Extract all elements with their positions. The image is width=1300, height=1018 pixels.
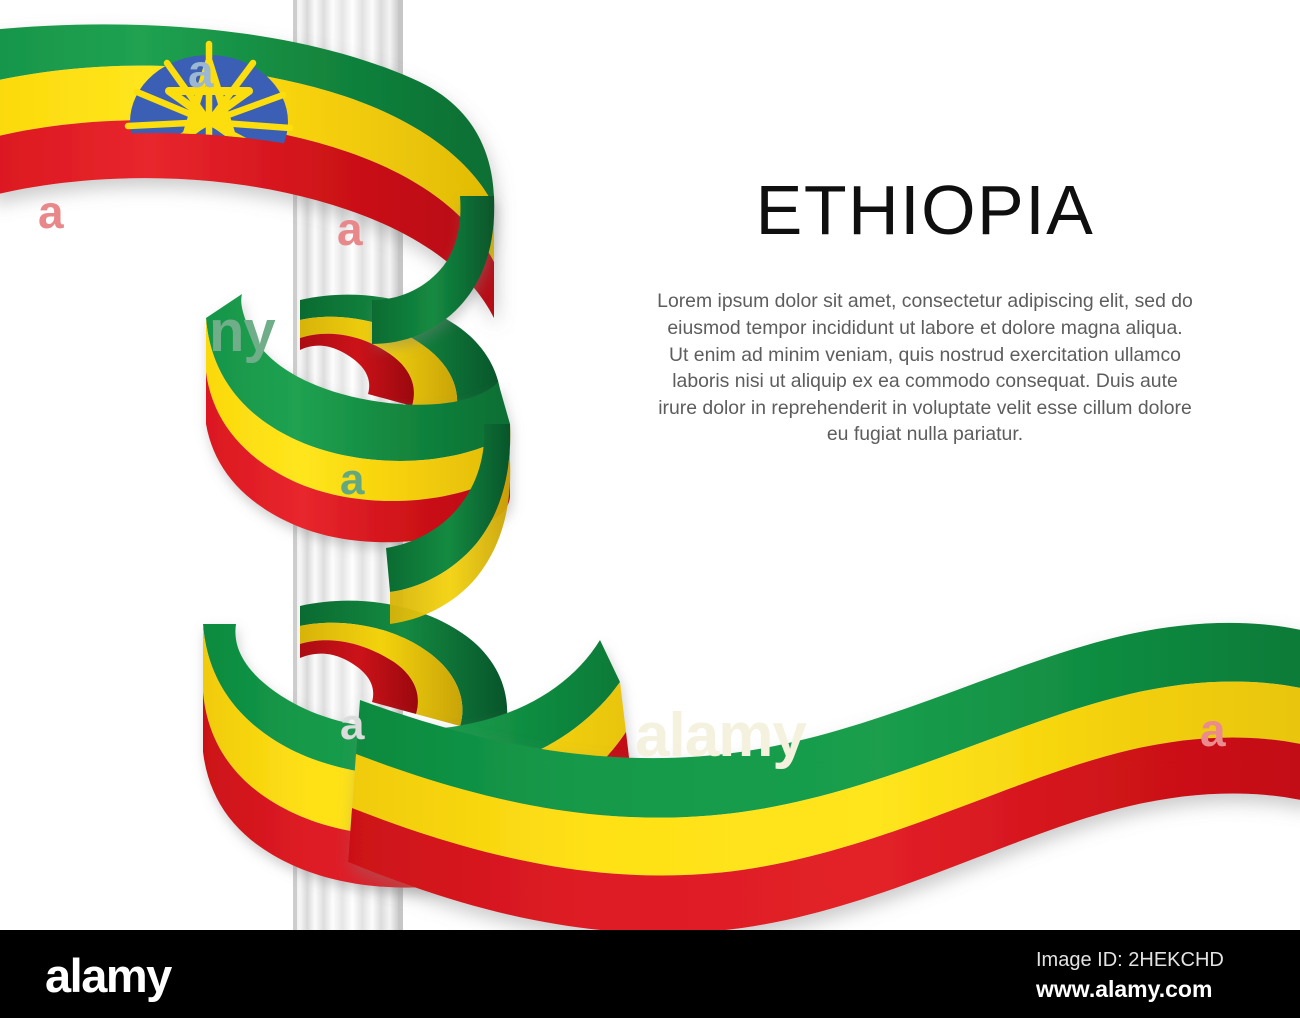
alamy-url-label: www.alamy.com: [1036, 976, 1266, 1004]
screenshot-root: a a a ny a a alamy a ETHIOPIA Lorem ipsu…: [0, 0, 1300, 1018]
body-paragraph: Lorem ipsum dolor sit amet, consectetur …: [645, 288, 1205, 448]
text-block: ETHIOPIA Lorem ipsum dolor sit amet, con…: [645, 175, 1205, 448]
alamy-footer-bar: alamy Image ID: 2HEKCHD www.alamy.com: [0, 930, 1300, 1018]
title-body-spacer: [645, 246, 1205, 288]
flag-artwork: a a a ny a a alamy a ETHIOPIA Lorem ipsu…: [0, 0, 1300, 930]
footer-meta: Image ID: 2HEKCHD www.alamy.com: [1036, 948, 1266, 1004]
image-id-label: Image ID: 2HEKCHD: [1036, 948, 1266, 972]
ribbon-flag-illustration: [0, 0, 1300, 930]
flag-top-panel: [0, 24, 494, 318]
alamy-logo: alamy: [45, 952, 171, 999]
page-title: ETHIOPIA: [645, 175, 1205, 246]
